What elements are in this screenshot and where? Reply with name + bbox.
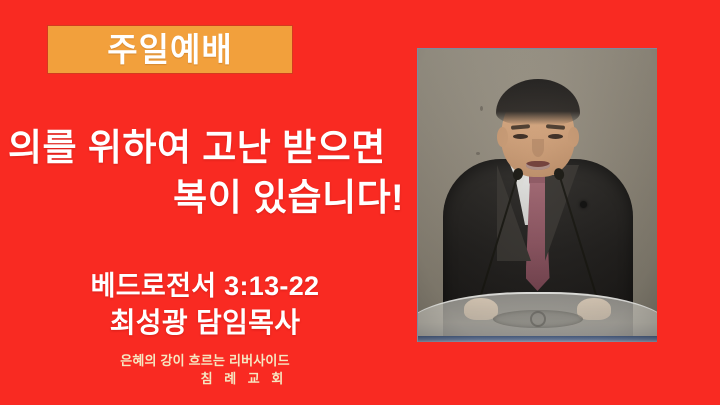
nose (532, 139, 544, 157)
preacher-head (501, 85, 575, 177)
podium-base-strip (418, 336, 657, 342)
mouth (526, 161, 550, 170)
church-name-line-2: 침 례 교 회 (40, 370, 370, 388)
sermon-title-line-2: 복이 있습니다! (6, 173, 406, 223)
sermon-title: 의를 위하여 고난 받으면 복이 있습니다! (6, 123, 406, 223)
ear-right (568, 127, 579, 147)
church-footer: 은혜의 강이 흐르는 리버사이드 침 례 교 회 (40, 352, 370, 388)
preacher-photo (417, 48, 657, 342)
photo-background-wall (418, 49, 657, 342)
category-label: 주일예배 (107, 33, 232, 66)
reference-block: 베드로전서 3:13-22 최성광 담임목사 (30, 268, 380, 342)
lapel-pin (580, 201, 587, 208)
church-name-line-1: 은혜의 강이 흐르는 리버사이드 (40, 352, 370, 370)
eye-right (548, 134, 563, 139)
eye-left (513, 134, 528, 139)
eyebrow-right (545, 124, 564, 130)
podium-emblem (493, 310, 583, 328)
acrylic-podium (417, 292, 657, 342)
hair (496, 79, 580, 125)
wall-blemish (480, 106, 483, 111)
suit-lapel-left (497, 165, 531, 261)
eyebrow-left (510, 124, 529, 130)
category-banner: 주일예배 (48, 26, 292, 73)
wall-blemish (476, 152, 480, 155)
sermon-slide: 주일예배 의를 위하여 고난 받으면 복이 있습니다! 베드로전서 3:13-2… (0, 0, 720, 405)
preacher-name: 최성광 담임목사 (30, 304, 380, 342)
ear-left (497, 127, 508, 147)
sermon-title-line-1: 의를 위하여 고난 받으면 (6, 123, 406, 173)
scripture-reference: 베드로전서 3:13-22 (30, 268, 380, 304)
